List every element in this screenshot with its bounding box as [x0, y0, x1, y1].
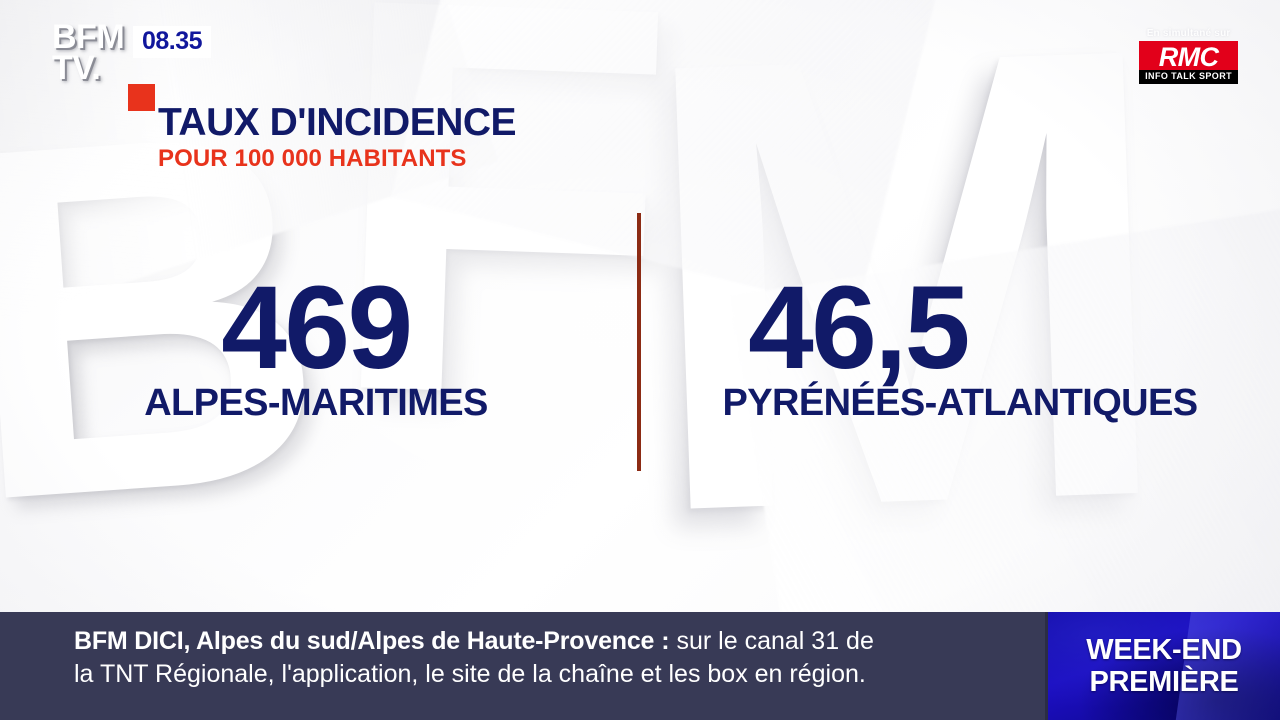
stat-value: 46,5 — [436, 274, 1280, 383]
stat-block-pyrenees-atlantiques: 46,5 PYRÉNÉES-ATLANTIQUES — [640, 274, 1280, 423]
ticker-text-area: BFM DICI, Alpes du sud/Alpes de Haute-Pr… — [0, 612, 1048, 720]
ticker-line-1: BFM DICI, Alpes du sud/Alpes de Haute-Pr… — [74, 626, 1030, 658]
red-accent-square — [128, 84, 155, 111]
show-badge: WEEK-END PREMIÈRE — [1048, 612, 1280, 720]
channel-logo: BFM TV. — [52, 22, 130, 100]
ticker-line-1-rest: sur le canal 31 de — [677, 627, 874, 655]
rmc-logo-tagline: INFO TALK SPORT — [1139, 70, 1238, 84]
show-title-line-1: WEEK-END — [1086, 634, 1242, 666]
simulcast-pretext: En simultané sur — [1139, 28, 1238, 39]
ticker-colon: : — [661, 627, 669, 655]
page-subtitle: POUR 100 000 HABITANTS — [158, 146, 516, 172]
rmc-logo-box: RMC — [1139, 41, 1238, 70]
ticker-line-2: la TNT Régionale, l'application, le site… — [74, 658, 1030, 690]
ticker-banner: BFM DICI, Alpes du sud/Alpes de Haute-Pr… — [0, 612, 1280, 720]
ticker-channel-name: BFM DICI, Alpes du sud/Alpes de Haute-Pr… — [74, 627, 654, 655]
show-title-line-2: PREMIÈRE — [1089, 666, 1238, 698]
simulcast-logo: En simultané sur RMC INFO TALK SPORT — [1139, 28, 1238, 84]
stat-label: ALPES-MARITIMES — [0, 384, 640, 422]
stat-label: PYRÉNÉES-ATLANTIQUES — [640, 384, 1280, 422]
on-air-clock: 08.35 — [133, 26, 211, 58]
headline-block: TAUX D'INCIDENCE POUR 100 000 HABITANTS — [158, 103, 516, 172]
broadcast-stage: B F M BFM TV. 08.35 TAUX D'INCIDENCE POU… — [0, 0, 1280, 720]
page-title: TAUX D'INCIDENCE — [158, 103, 516, 143]
rmc-logo-name: RMC — [1149, 45, 1228, 70]
channel-logo-tv: TV. — [52, 53, 130, 84]
stat-divider — [637, 213, 641, 471]
clock-time: 08.35 — [142, 27, 202, 55]
